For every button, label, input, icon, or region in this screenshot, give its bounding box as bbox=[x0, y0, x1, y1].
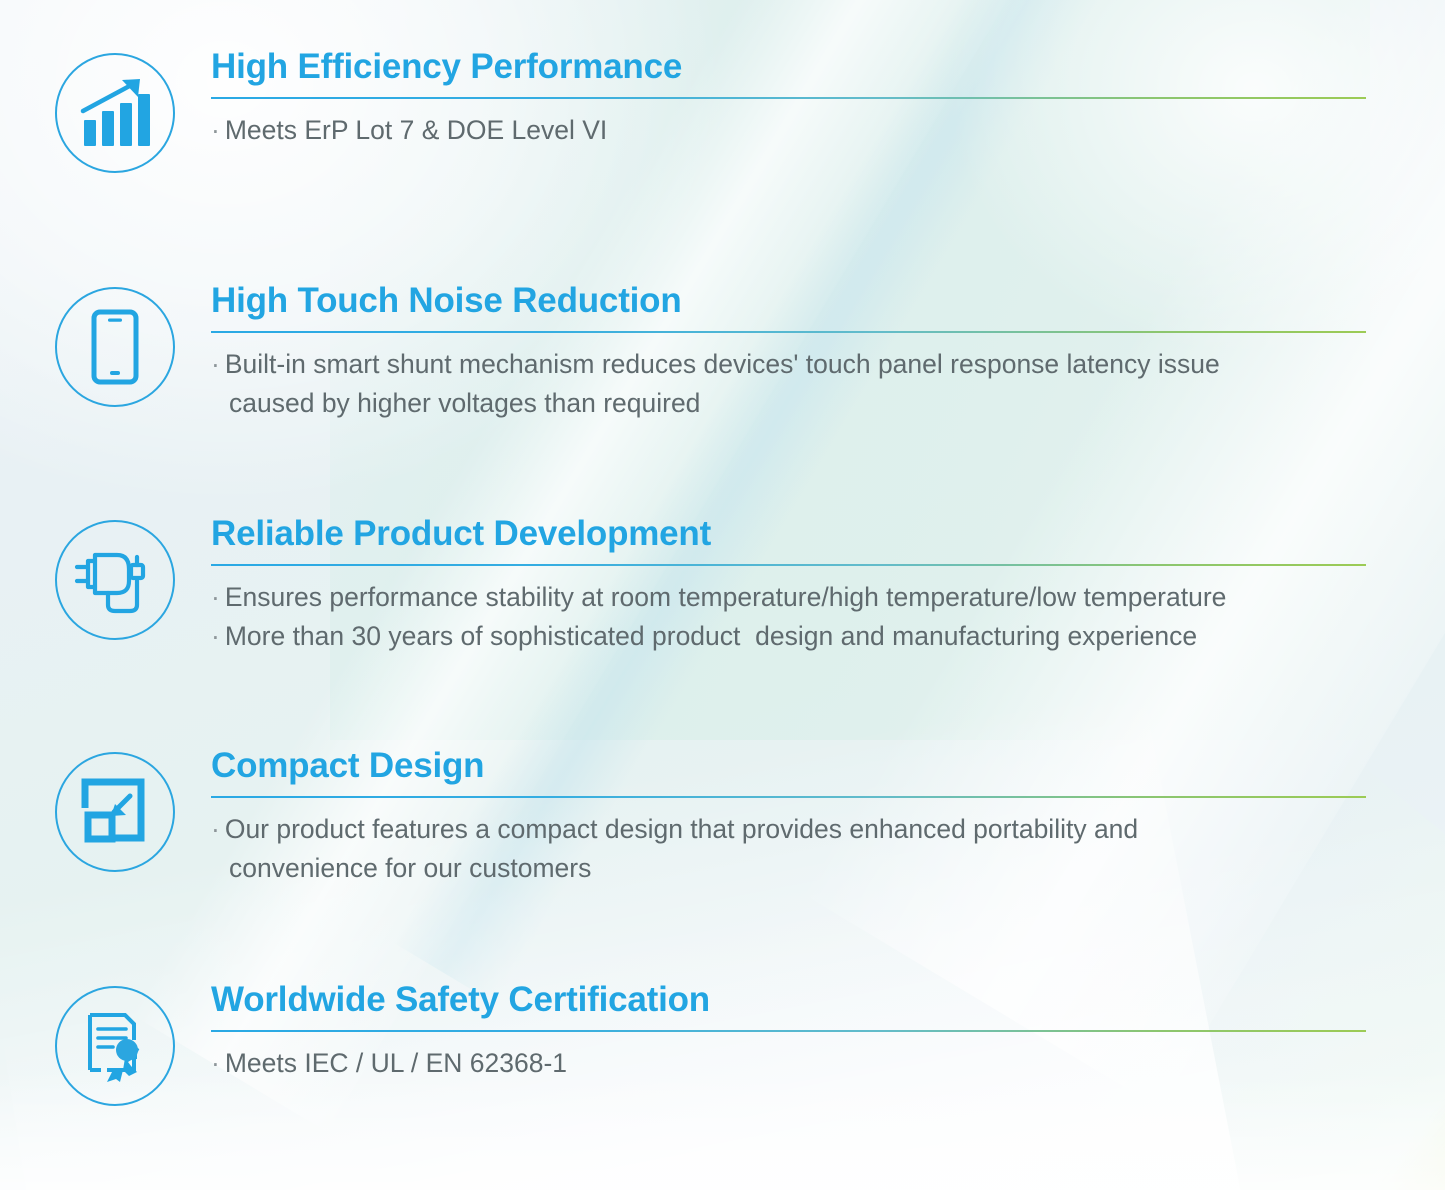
feature-line-text: convenience for our customers bbox=[229, 853, 591, 883]
feature-line: convenience for our customers bbox=[211, 849, 1366, 888]
feature-icon-wrapper bbox=[52, 284, 178, 410]
feature-description: ·Meets IEC / UL / EN 62368-1 bbox=[211, 1044, 1366, 1083]
bullet-icon: · bbox=[211, 582, 225, 612]
feature-title: Worldwide Safety Certification bbox=[211, 979, 1366, 1020]
icon-circle-border bbox=[55, 53, 175, 173]
feature-divider bbox=[211, 331, 1366, 333]
feature-line: ·Our product features a compact design t… bbox=[211, 810, 1366, 849]
feature-body: High Efficiency Performance ·Meets ErP L… bbox=[211, 46, 1366, 150]
feature-title: Reliable Product Development bbox=[211, 513, 1366, 554]
feature-icon-wrapper bbox=[52, 50, 178, 176]
bullet-icon: · bbox=[211, 1048, 225, 1078]
bullet-icon: · bbox=[211, 621, 225, 651]
smartphone-icon bbox=[91, 309, 139, 385]
feature-divider bbox=[211, 97, 1366, 99]
feature-description: ·Meets ErP Lot 7 & DOE Level VI bbox=[211, 111, 1366, 150]
feature-divider bbox=[211, 796, 1366, 798]
feature-title: High Touch Noise Reduction bbox=[211, 280, 1366, 321]
feature-line: ·Ensures performance stability at room t… bbox=[211, 578, 1366, 617]
compact-resize-icon bbox=[81, 778, 149, 846]
feature-line-text: Ensures performance stability at room te… bbox=[225, 582, 1227, 612]
feature-icon-wrapper bbox=[52, 749, 178, 875]
icon-circle-border bbox=[55, 520, 175, 640]
feature-line: caused by higher voltages than required bbox=[211, 384, 1366, 423]
feature-body: Worldwide Safety Certification ·Meets IE… bbox=[211, 979, 1366, 1083]
feature-description: ·Ensures performance stability at room t… bbox=[211, 578, 1366, 656]
feature-line: ·Built-in smart shunt mechanism reduces … bbox=[211, 345, 1366, 384]
feature-description: ·Built-in smart shunt mechanism reduces … bbox=[211, 345, 1366, 423]
feature-line: ·Meets ErP Lot 7 & DOE Level VI bbox=[211, 111, 1366, 150]
icon-circle-border bbox=[55, 287, 175, 407]
feature-line-text: Built-in smart shunt mechanism reduces d… bbox=[225, 349, 1220, 379]
feature-icon-wrapper bbox=[52, 983, 178, 1109]
feature-divider bbox=[211, 564, 1366, 566]
feature-title: Compact Design bbox=[211, 745, 1366, 786]
certificate-award-icon bbox=[79, 1010, 151, 1082]
power-adapter-icon bbox=[73, 543, 157, 617]
feature-body: Compact Design ·Our product features a c… bbox=[211, 745, 1366, 888]
feature-list: High Efficiency Performance ·Meets ErP L… bbox=[0, 0, 1445, 1190]
feature-body: High Touch Noise Reduction ·Built-in sma… bbox=[211, 280, 1366, 423]
bullet-icon: · bbox=[211, 115, 225, 145]
feature-line-text: More than 30 years of sophisticated prod… bbox=[225, 621, 1197, 651]
feature-line-text: Our product features a compact design th… bbox=[225, 814, 1138, 844]
feature-highlights-page: High Efficiency Performance ·Meets ErP L… bbox=[0, 0, 1445, 1190]
feature-line: ·Meets IEC / UL / EN 62368-1 bbox=[211, 1044, 1366, 1083]
feature-line: ·More than 30 years of sophisticated pro… bbox=[211, 617, 1366, 656]
feature-description: ·Our product features a compact design t… bbox=[211, 810, 1366, 888]
icon-circle-border bbox=[55, 752, 175, 872]
feature-title: High Efficiency Performance bbox=[211, 46, 1366, 87]
feature-line-text: Meets ErP Lot 7 & DOE Level VI bbox=[225, 115, 607, 145]
feature-divider bbox=[211, 1030, 1366, 1032]
feature-line-text: Meets IEC / UL / EN 62368-1 bbox=[225, 1048, 567, 1078]
icon-circle-border bbox=[55, 986, 175, 1106]
feature-icon-wrapper bbox=[52, 517, 178, 643]
bar-chart-growth-icon bbox=[78, 78, 152, 148]
feature-body: Reliable Product Development ·Ensures pe… bbox=[211, 513, 1366, 656]
bullet-icon: · bbox=[211, 814, 225, 844]
bullet-icon: · bbox=[211, 349, 225, 379]
feature-line-text: caused by higher voltages than required bbox=[229, 388, 700, 418]
